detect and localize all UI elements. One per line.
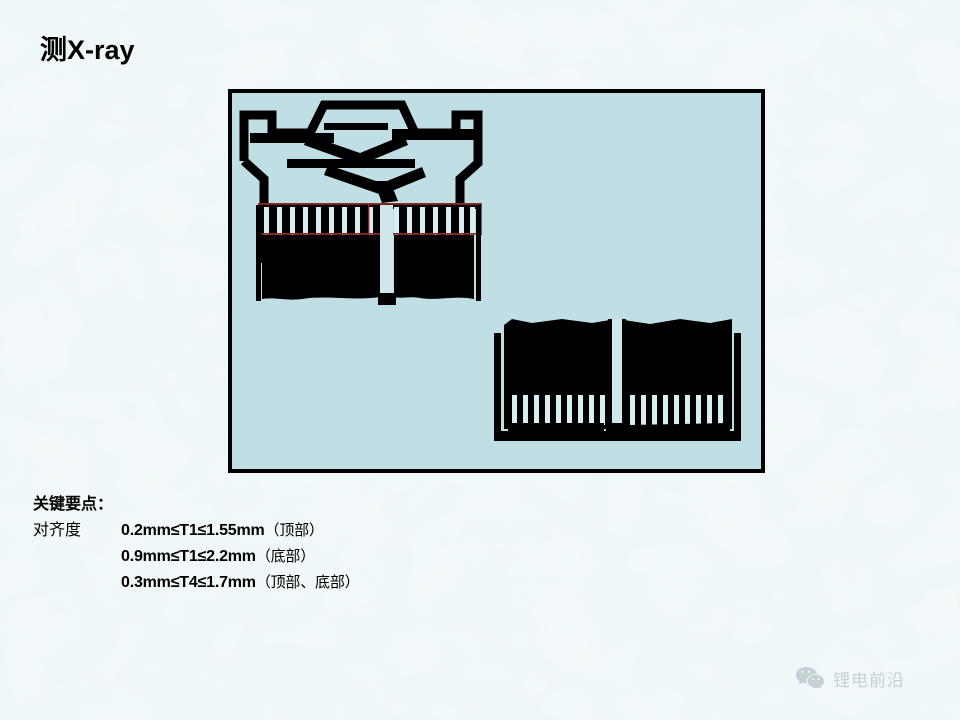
jellyroll-body-bottom-left (504, 319, 610, 397)
can-wall-left-top (256, 205, 261, 301)
page-title-cjk: 测 (40, 35, 67, 66)
watermark-text: 锂电前沿 (833, 666, 905, 691)
key-points-spec: 0.2mm≤T1≤1.55mm (121, 522, 265, 539)
key-points-spec: 0.3mm≤T4≤1.7mm (121, 574, 256, 591)
cap-mark-upper (324, 123, 388, 130)
key-points-note: （顶部） (265, 521, 324, 539)
wechat-icon (795, 665, 825, 691)
can-floor-shadow-bottom (508, 423, 604, 433)
key-points-value: 0.3mm≤T4≤1.7mm（顶部、底部） (121, 570, 359, 596)
jellyroll-body-bottom-right (624, 319, 732, 397)
key-points-block: 关键要点： 对齐度 0.2mm≤T1≤1.55mm（顶部） 0.9mm≤T1≤2… (33, 492, 553, 596)
center-separator-pillar2-bottom (622, 319, 626, 437)
can-floor-shadow2-bottom (628, 423, 730, 435)
xray-image-graphic (232, 93, 761, 469)
page-title-latin: X-ray (67, 35, 135, 65)
center-separator-gap-top (380, 205, 393, 305)
page-title: 测X-ray (40, 36, 135, 66)
center-separator-gap-bottom (610, 319, 624, 431)
key-points-label: 对齐度 (33, 517, 121, 543)
center-separator-stub-top (378, 293, 396, 305)
key-points-note: （顶部、底部） (256, 573, 360, 591)
center-separator-pillar-bottom (608, 319, 612, 437)
key-points-row: 0.3mm≤T4≤1.7mm（顶部、底部） (33, 570, 553, 596)
key-points-spec: 0.9mm≤T1≤2.2mm (121, 548, 256, 565)
slide-canvas: 测X-ray (0, 0, 960, 720)
watermark: 锂电前沿 (795, 665, 905, 691)
key-points-note: （底部） (256, 547, 315, 565)
xray-image-panel (228, 89, 765, 473)
can-wall-left-bottom (494, 333, 501, 439)
can-wall-right-bottom (734, 333, 741, 439)
xray-bottom-view (494, 319, 741, 441)
key-points-value: 0.9mm≤T1≤2.2mm（底部） (121, 544, 315, 570)
key-points-value: 0.2mm≤T1≤1.55mm（顶部） (121, 518, 324, 544)
key-points-row: 对齐度 0.2mm≤T1≤1.55mm（顶部） (33, 517, 553, 544)
can-wall-right-top (476, 205, 481, 301)
key-points-row: 0.9mm≤T1≤2.2mm（底部） (33, 544, 553, 570)
key-points-heading: 关键要点： (33, 492, 553, 515)
